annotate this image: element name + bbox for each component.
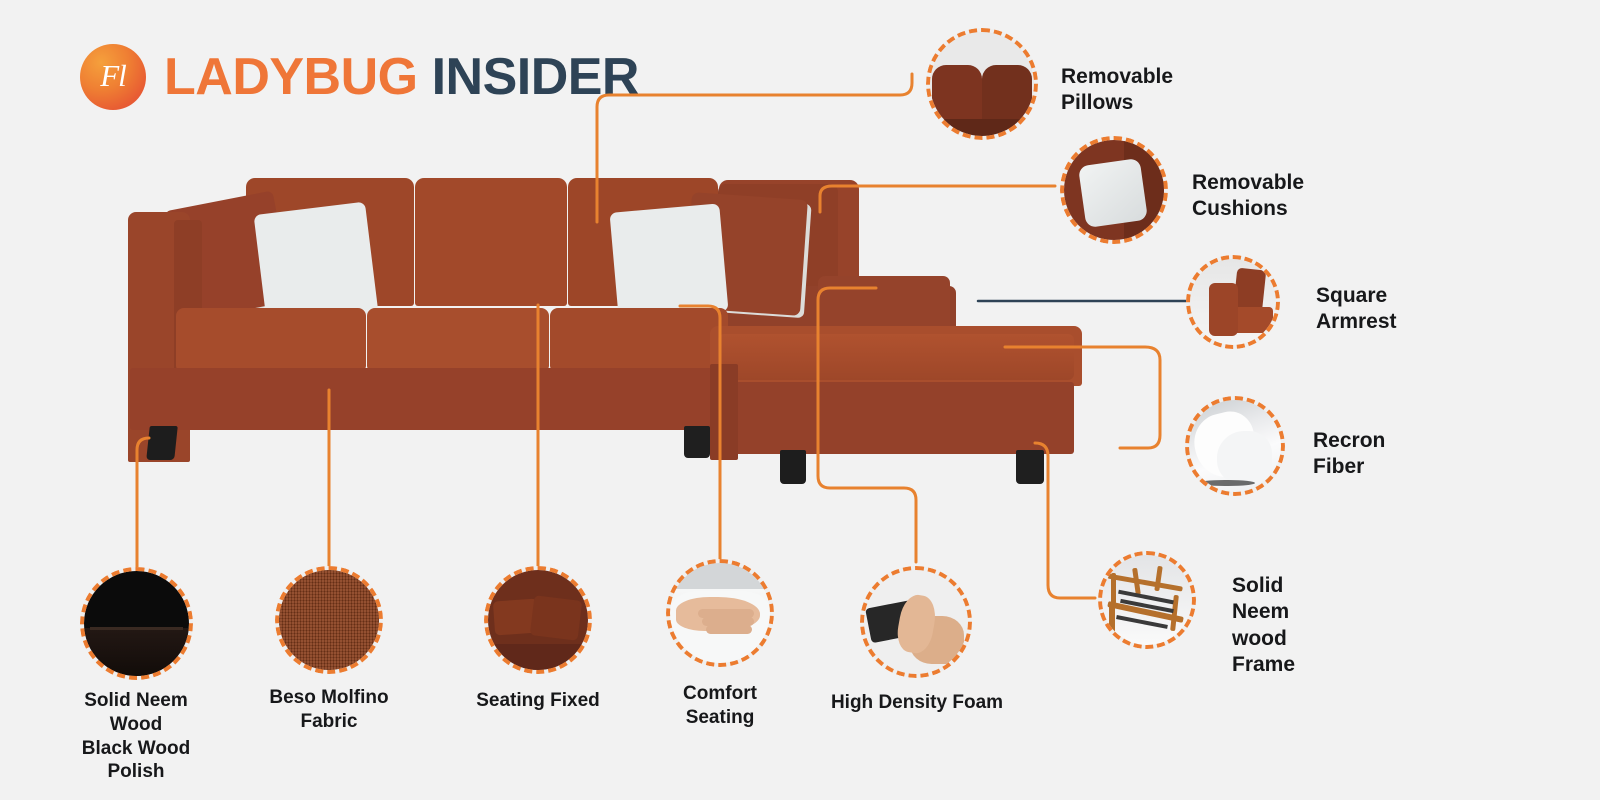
chaise-side-panel [710, 364, 738, 460]
callout-comfort-seating[interactable]: Comfort Seating [666, 559, 774, 667]
callout-square-armrest[interactable]: Square Armrest [1186, 255, 1280, 349]
fl-monogram-icon: Fl [80, 44, 146, 110]
wooden-frame-icon [1102, 555, 1192, 645]
seating-fixed-thumbnail [484, 566, 592, 674]
callout-label-square-armrest: Square Armrest [1316, 283, 1397, 336]
callout-beso-molfino-fabric[interactable]: Beso Molfino Fabric [275, 566, 383, 674]
callout-label-solid-neem-wood-frame: Solid Neem wood Frame [1232, 573, 1295, 678]
leg-chaise-right [1016, 450, 1044, 484]
sofa-base-left [130, 368, 730, 430]
brand-header: Fl LADYBUG INSIDER [80, 44, 639, 110]
seat-cushion-1 [176, 308, 366, 370]
black-polished-wood-icon [84, 571, 189, 676]
chaise-seat-shading [718, 334, 1074, 380]
seat-cushion-3 [550, 308, 728, 370]
black-wood-polish-thumbnail [80, 567, 193, 680]
high-density-foam-thumbnail [860, 566, 972, 678]
callout-removable-pillows[interactable]: Removable Pillows [926, 28, 1038, 140]
chaise-armrest [818, 276, 950, 332]
square-armrest-thumbnail [1186, 255, 1280, 349]
square-armrest-icon [1190, 259, 1276, 345]
back-cushion-left-2 [415, 178, 567, 306]
fixed-seating-icon [488, 570, 588, 670]
removable-cushions-thumbnail [1060, 136, 1168, 244]
callout-seating-fixed[interactable]: Seating Fixed [484, 566, 592, 674]
callout-label-removable-cushions: Removable Cushions [1192, 170, 1304, 223]
accent-pillow-white-right [610, 203, 729, 320]
brand-word-insider: INSIDER [432, 48, 639, 106]
beso-molfino-fabric-thumbnail [275, 566, 383, 674]
hand-pressing-foam-icon [670, 563, 770, 663]
two-brown-pillows-icon [930, 32, 1034, 136]
solid-neem-wood-frame-thumbnail [1098, 551, 1196, 649]
leg-front-left [146, 426, 178, 460]
callout-label-comfort-seating: Comfort Seating [646, 682, 794, 730]
chaise-base [722, 382, 1074, 454]
callout-label-seating-fixed: Seating Fixed [462, 689, 614, 713]
callout-solid-neem-wood-frame[interactable]: Solid Neem wood Frame [1098, 551, 1196, 649]
callout-high-density-foam[interactable]: High Density Foam [860, 566, 972, 678]
hand-holding-black-foam-icon [864, 570, 968, 674]
callout-recron-fiber[interactable]: Recron Fiber [1185, 396, 1285, 496]
logo-glyph: Fl [80, 44, 146, 110]
page-title: LADYBUG INSIDER [164, 51, 639, 103]
callout-removable-cushions[interactable]: Removable Cushions [1060, 136, 1168, 244]
recron-fiber-thumbnail [1185, 396, 1285, 496]
product-sofa-image [118, 168, 1098, 498]
callout-solid-neem-wood-black-polish[interactable]: Solid Neem Wood Black Wood Polish [80, 567, 193, 680]
brand-word-ladybug: LADYBUG [164, 48, 418, 106]
callout-label-recron-fiber: Recron Fiber [1313, 428, 1385, 481]
leg-chaise-left [780, 450, 806, 484]
comfort-seating-thumbnail [666, 559, 774, 667]
callout-label-high-density-foam: High Density Foam [824, 691, 1010, 715]
white-fiber-fill-icon [1189, 400, 1281, 492]
white-cushion-icon [1064, 140, 1164, 240]
callout-label-removable-pillows: Removable Pillows [1061, 64, 1173, 117]
callout-label-beso-molfino-fabric: Beso Molfino Fabric [249, 686, 409, 734]
removable-pillows-thumbnail [926, 28, 1038, 140]
seat-cushion-2 [367, 308, 549, 370]
callout-label-solid-neem-wood-black-polish: Solid Neem Wood Black Wood Polish [56, 689, 216, 784]
leg-front-right [684, 426, 710, 458]
brown-woven-fabric-icon [279, 570, 379, 670]
